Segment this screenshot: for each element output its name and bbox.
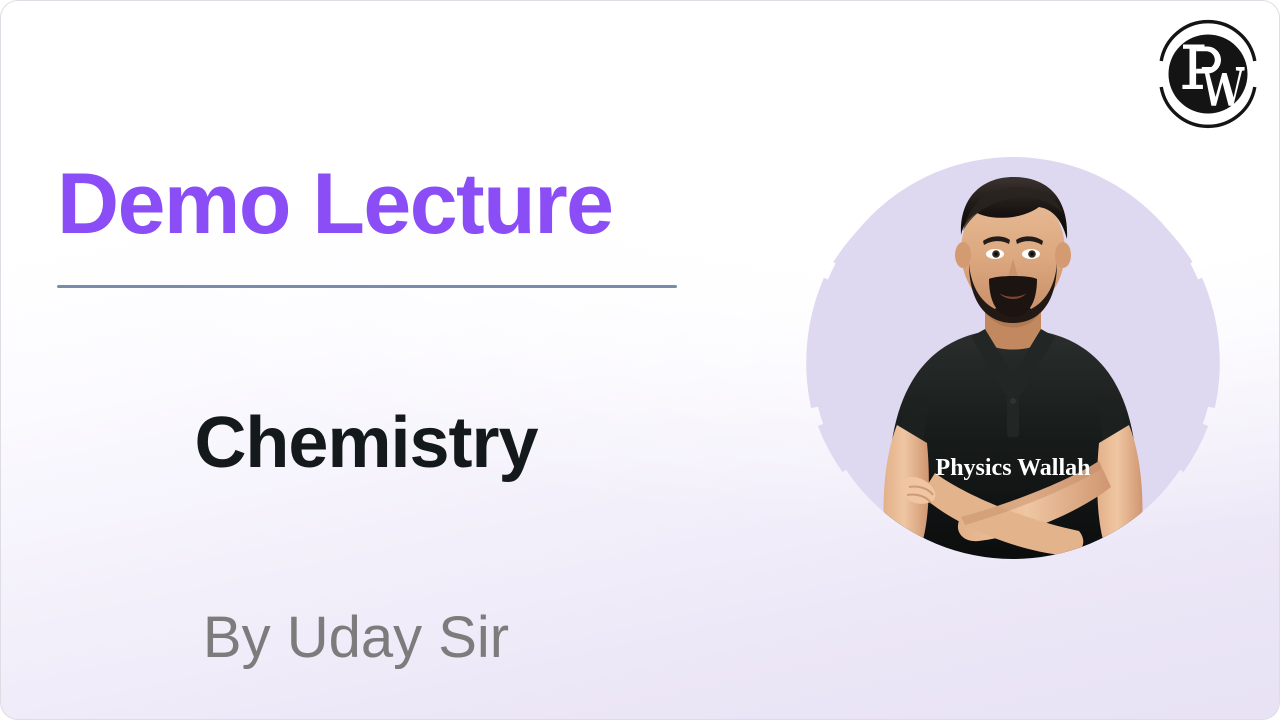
title-divider	[57, 285, 677, 288]
subject-heading: Chemistry	[1, 407, 731, 479]
presenter-label: By Uday Sir	[1, 609, 711, 667]
shirt-brand-text: Physics Wallah	[936, 455, 1091, 481]
demo-lecture-slide: Demo Lecture Chemistry By Uday Sir	[0, 0, 1280, 720]
instructor-medallion: Physics Wallah	[793, 143, 1233, 601]
page-title: Demo Lecture	[57, 161, 613, 247]
pw-logo-icon	[1149, 15, 1267, 133]
slide-text-column: Demo Lecture Chemistry By Uday Sir	[1, 1, 741, 720]
